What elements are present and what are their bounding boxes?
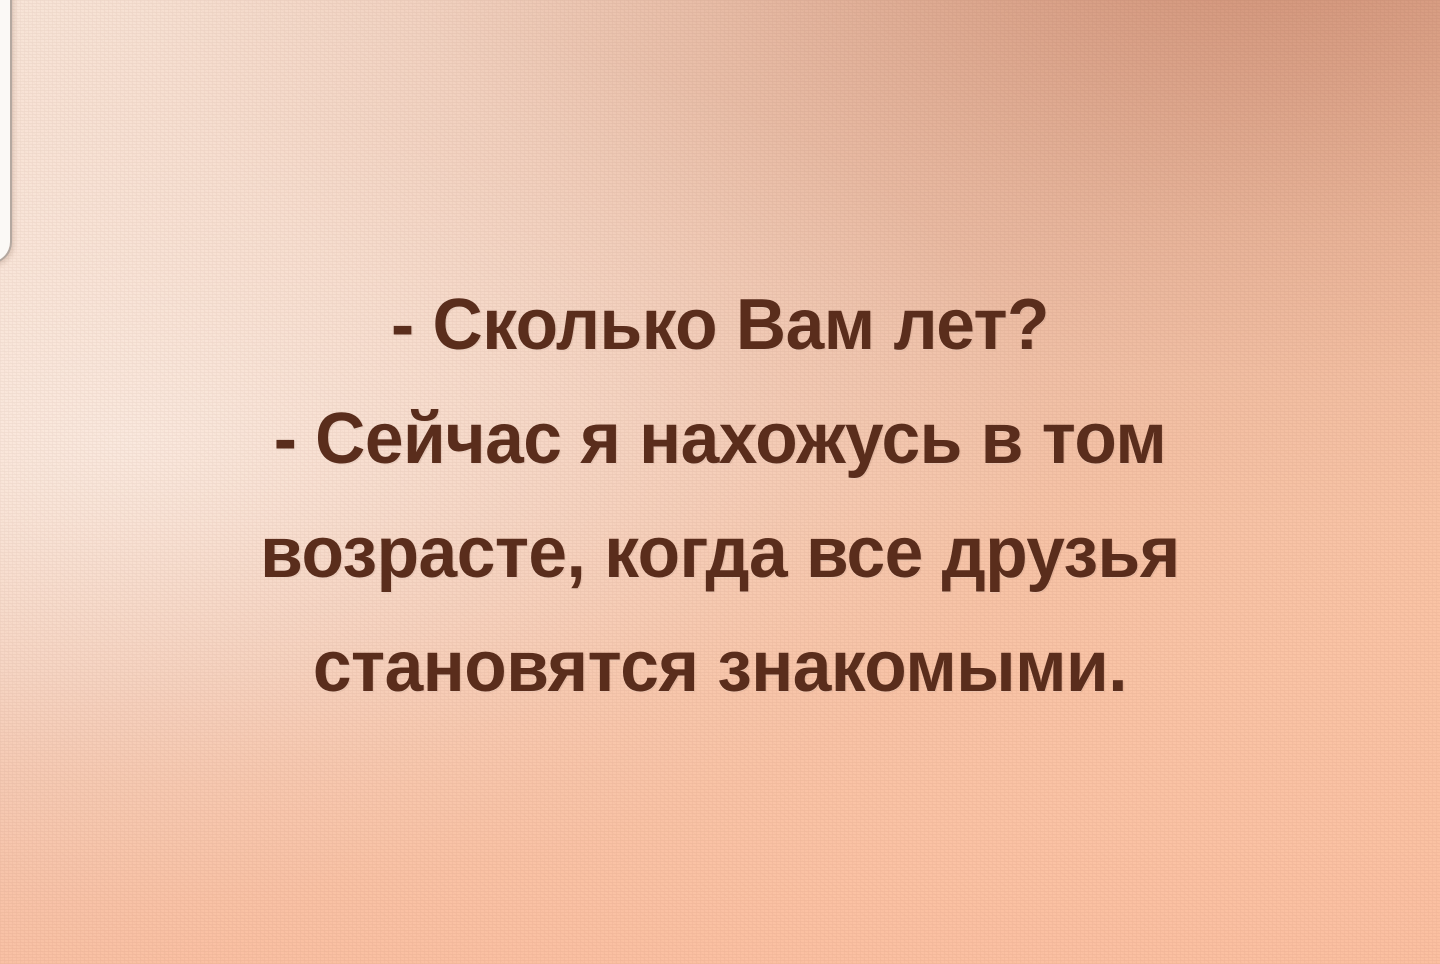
caption-text-block: - Сколько Вам лет? - Сейчас я нахожусь в… [0,268,1440,724]
image-card: - Сколько Вам лет? - Сейчас я нахожусь в… [0,0,1440,964]
white-edge-panel [0,0,12,264]
caption-line-1: - Сколько Вам лет? [58,268,1382,382]
caption-line-3: возрасте, когда все друзья [58,496,1382,610]
caption-line-4: становятся знакомыми. [58,610,1382,724]
caption-line-2: - Сейчас я нахожусь в том [58,382,1382,496]
